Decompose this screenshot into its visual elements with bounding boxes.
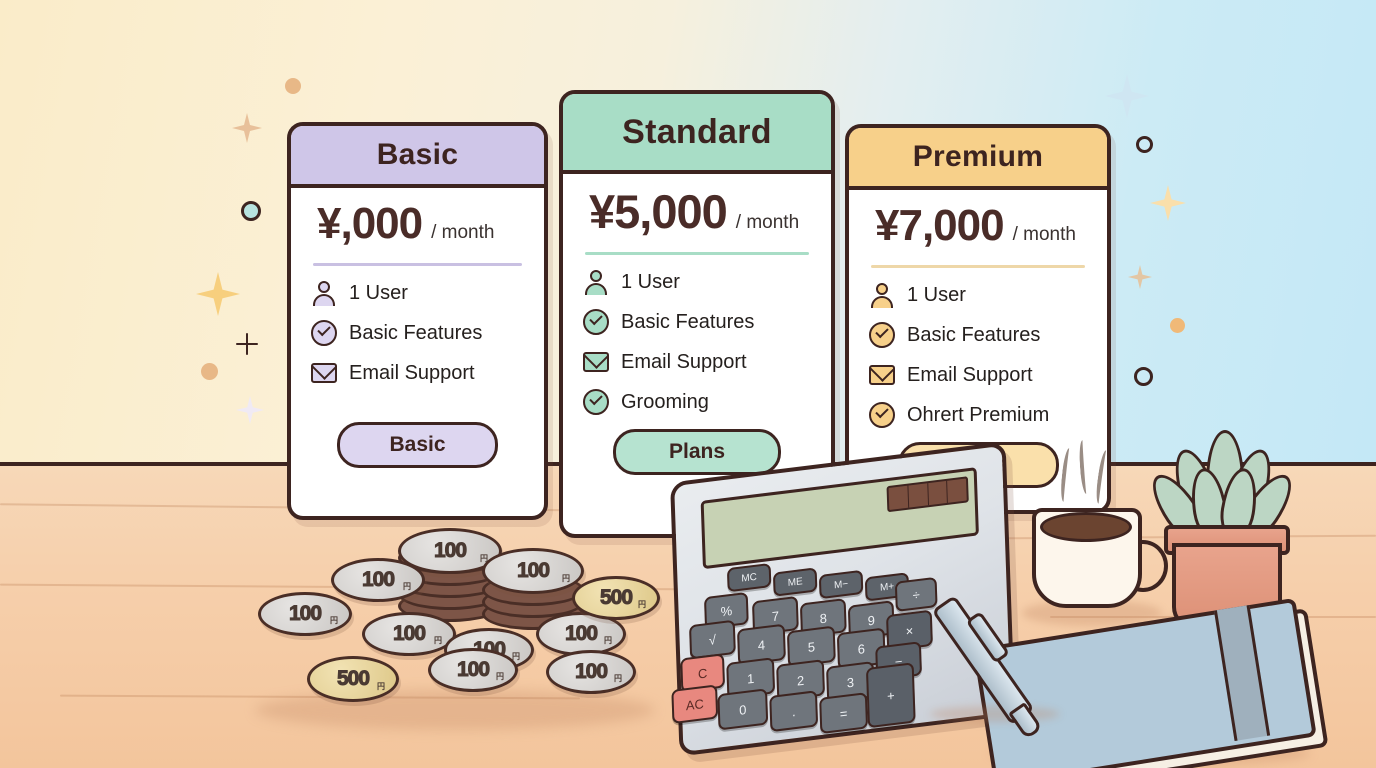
key-equals[interactable]: = xyxy=(819,692,868,734)
coin-100: 100 円 xyxy=(258,592,352,636)
coin-value: 100 xyxy=(362,568,394,592)
coin-unit: 円 xyxy=(377,681,385,692)
feature-item: 1 User xyxy=(869,282,1087,308)
sparkle-icon xyxy=(232,113,262,143)
key-mc[interactable]: MC xyxy=(727,563,772,592)
coin-unit: 円 xyxy=(434,635,442,646)
ring-decoration xyxy=(1134,367,1153,386)
coin-unit: 円 xyxy=(496,671,504,682)
feature-item: Email Support xyxy=(311,360,524,386)
coin-100: 100 円 xyxy=(482,548,584,594)
dot-decoration xyxy=(285,78,301,94)
feature-item: Basic Features xyxy=(311,320,524,346)
check-icon xyxy=(583,389,609,415)
check-icon xyxy=(311,320,337,346)
feature-label: Basic Features xyxy=(349,322,482,345)
price-divider xyxy=(871,265,1085,268)
feature-item: Email Support xyxy=(583,349,811,375)
user-icon xyxy=(869,282,895,308)
dot-decoration xyxy=(201,363,218,380)
feature-item: Basic Features xyxy=(583,309,811,335)
plus-sparkle-icon xyxy=(236,333,258,355)
key-m-minus[interactable]: M− xyxy=(819,570,864,599)
coin-value: 100 xyxy=(565,622,597,646)
feature-item: Grooming xyxy=(583,389,811,415)
coffee-surface xyxy=(1040,512,1132,542)
feature-label: Email Support xyxy=(621,351,747,374)
feature-list-premium: 1 User Basic Features Email Support Ohre… xyxy=(869,282,1087,428)
envelope-icon xyxy=(311,360,337,386)
key-divide[interactable]: ÷ xyxy=(895,577,938,612)
coin-value: 100 xyxy=(517,559,549,583)
plan-price: ¥,000 xyxy=(317,202,422,246)
feature-label: 1 User xyxy=(621,271,680,294)
feature-label: 1 User xyxy=(349,282,408,305)
card-header-standard: Standard xyxy=(563,94,831,174)
key-sqrt[interactable]: √ xyxy=(689,620,736,660)
coin-value: 500 xyxy=(600,586,632,610)
plan-period: / month xyxy=(1013,224,1076,246)
coin-unit: 円 xyxy=(562,573,570,584)
sparkle-icon xyxy=(1150,185,1186,221)
key-me[interactable]: ME xyxy=(773,567,818,596)
sparkle-icon xyxy=(1105,74,1149,118)
feature-list-standard: 1 User Basic Features Email Support Groo… xyxy=(583,269,811,415)
user-icon xyxy=(311,280,337,306)
feature-item: Ohrert Premium xyxy=(869,402,1087,428)
coin-100: 100 円 xyxy=(428,648,518,692)
coin-unit: 円 xyxy=(330,615,338,626)
envelope-icon xyxy=(869,362,895,388)
coin-unit: 円 xyxy=(403,581,411,592)
feature-label: Email Support xyxy=(349,362,475,385)
check-icon xyxy=(583,309,609,335)
feature-label: 1 User xyxy=(907,284,966,307)
plan-period: / month xyxy=(431,222,494,244)
pricing-card-basic[interactable]: Basic ¥,000 / month 1 User Basic Feature… xyxy=(287,122,548,520)
plan-price: ¥7,000 xyxy=(875,204,1004,248)
plan-period: / month xyxy=(736,212,799,234)
check-icon xyxy=(869,322,895,348)
coin-value: 100 xyxy=(393,622,425,646)
price-divider xyxy=(585,252,809,255)
sparkle-icon xyxy=(236,396,264,424)
price-row: ¥,000 / month xyxy=(311,202,524,246)
coin-500: 500 円 xyxy=(307,656,399,702)
coin-value: 100 xyxy=(434,539,466,563)
feature-label: Email Support xyxy=(907,364,1033,387)
plan-title: Basic xyxy=(377,138,459,172)
feature-label: Basic Features xyxy=(907,324,1040,347)
key-0[interactable]: 0 xyxy=(717,688,768,730)
card-header-premium: Premium xyxy=(849,128,1107,190)
ring-decoration xyxy=(241,201,261,221)
pricing-illustration-scene: Premium ¥7,000 / month 1 User Basic Feat… xyxy=(0,0,1376,768)
coin-value: 100 xyxy=(575,660,607,684)
plan-cta-button-basic[interactable]: Basic xyxy=(337,422,498,468)
coin-unit: 円 xyxy=(604,635,612,646)
feature-item: Basic Features xyxy=(869,322,1087,348)
check-icon xyxy=(869,402,895,428)
envelope-icon xyxy=(583,349,609,375)
plan-price: ¥5,000 xyxy=(589,188,727,235)
key-decimal[interactable]: . xyxy=(769,690,818,732)
feature-list-basic: 1 User Basic Features Email Support xyxy=(311,280,524,386)
user-icon xyxy=(583,269,609,295)
feature-label: Basic Features xyxy=(621,311,754,334)
feature-label: Ohrert Premium xyxy=(907,404,1049,427)
price-divider xyxy=(313,263,522,266)
dot-decoration xyxy=(1170,318,1185,333)
coin-value: 100 xyxy=(289,602,321,626)
coin-value: 500 xyxy=(337,667,369,691)
feature-item: 1 User xyxy=(583,269,811,295)
sparkle-icon xyxy=(196,272,240,316)
coin-100: 100 円 xyxy=(331,558,425,602)
key-plus[interactable]: + xyxy=(866,662,916,728)
plan-title: Standard xyxy=(622,113,772,152)
sparkle-icon xyxy=(1128,265,1152,289)
solar-panel xyxy=(887,476,969,512)
feature-item: Email Support xyxy=(869,362,1087,388)
ring-decoration xyxy=(1136,136,1153,153)
price-row: ¥7,000 / month xyxy=(869,204,1087,248)
coins-shadow xyxy=(255,690,655,730)
card-header-basic: Basic xyxy=(291,126,544,188)
feature-label: Grooming xyxy=(621,391,709,414)
coin-100: 100 円 xyxy=(546,650,636,694)
coin-unit: 円 xyxy=(614,673,622,684)
price-row: ¥5,000 / month xyxy=(583,188,811,235)
coin-500: 500 円 xyxy=(572,576,660,620)
coin-100: 100 円 xyxy=(362,612,456,656)
coin-unit: 円 xyxy=(638,599,646,610)
key-ac[interactable]: AC xyxy=(671,684,718,724)
coin-value: 100 xyxy=(457,658,489,682)
plan-title: Premium xyxy=(913,140,1043,174)
feature-item: 1 User xyxy=(311,280,524,306)
